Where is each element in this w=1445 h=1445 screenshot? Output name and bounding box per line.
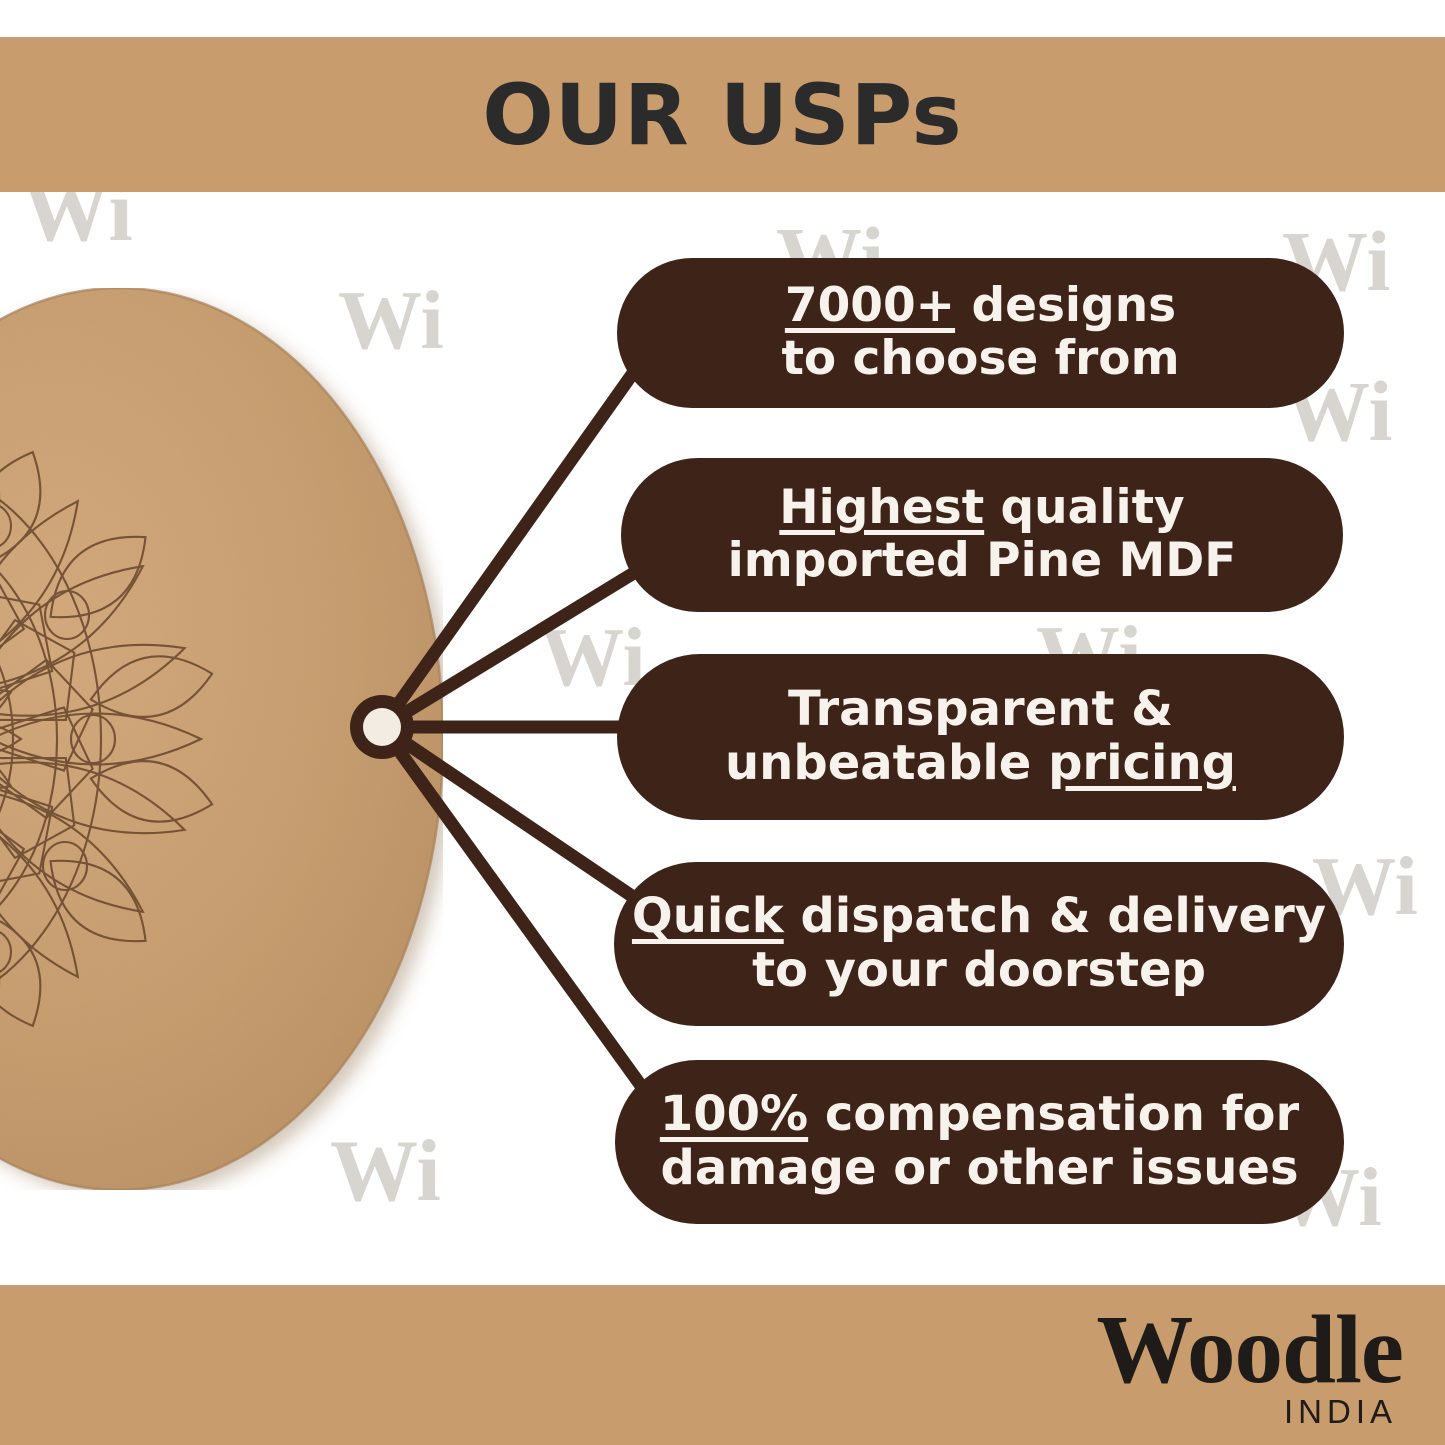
- usp-line-1: 7000+ designs: [785, 280, 1176, 333]
- usp-line-2: damage or other issues: [660, 1142, 1298, 1196]
- connector-line-0: [382, 335, 660, 727]
- hub-node-center: [363, 708, 401, 746]
- usp-card-designs[interactable]: 7000+ designs to choose from: [617, 258, 1344, 408]
- usp-highlight: 7000+: [785, 278, 955, 333]
- usp-card-dispatch[interactable]: Quick dispatch & delivery to your doorst…: [614, 862, 1344, 1026]
- usp-highlight: Quick: [632, 888, 784, 944]
- page-title: OUR USPs: [0, 37, 1445, 192]
- usp-line-2: unbeatable pricing: [725, 737, 1236, 791]
- usp-line-2: to your doorstep: [752, 944, 1206, 998]
- usp-line-1: Highest quality: [779, 482, 1184, 535]
- usp-card-quality[interactable]: Highest quality imported Pine MDF: [621, 458, 1343, 612]
- usp-line-2: imported Pine MDF: [728, 535, 1237, 588]
- usp-card-compensation[interactable]: 100% compensation for damage or other is…: [615, 1060, 1344, 1224]
- usp-line-1: Transparent &: [788, 683, 1173, 737]
- usp-line-1: Quick dispatch & delivery: [632, 890, 1326, 944]
- infographic-canvas: WiWiWiWiWiWiWiWiWiWi: [0, 0, 1445, 1445]
- connector-line-1: [382, 557, 660, 727]
- brand-logo: Woodle INDIA: [1096, 1302, 1403, 1431]
- usp-highlight: 100%: [660, 1086, 808, 1142]
- usp-line-2: to choose from: [781, 333, 1179, 386]
- usp-highlight: pricing: [1048, 735, 1236, 791]
- usp-highlight: Highest: [779, 480, 984, 535]
- brand-logo-wordmark: Woodle: [1096, 1302, 1403, 1397]
- usp-line-1: 100% compensation for: [660, 1088, 1299, 1142]
- usp-card-pricing[interactable]: Transparent & unbeatable pricing: [617, 654, 1344, 820]
